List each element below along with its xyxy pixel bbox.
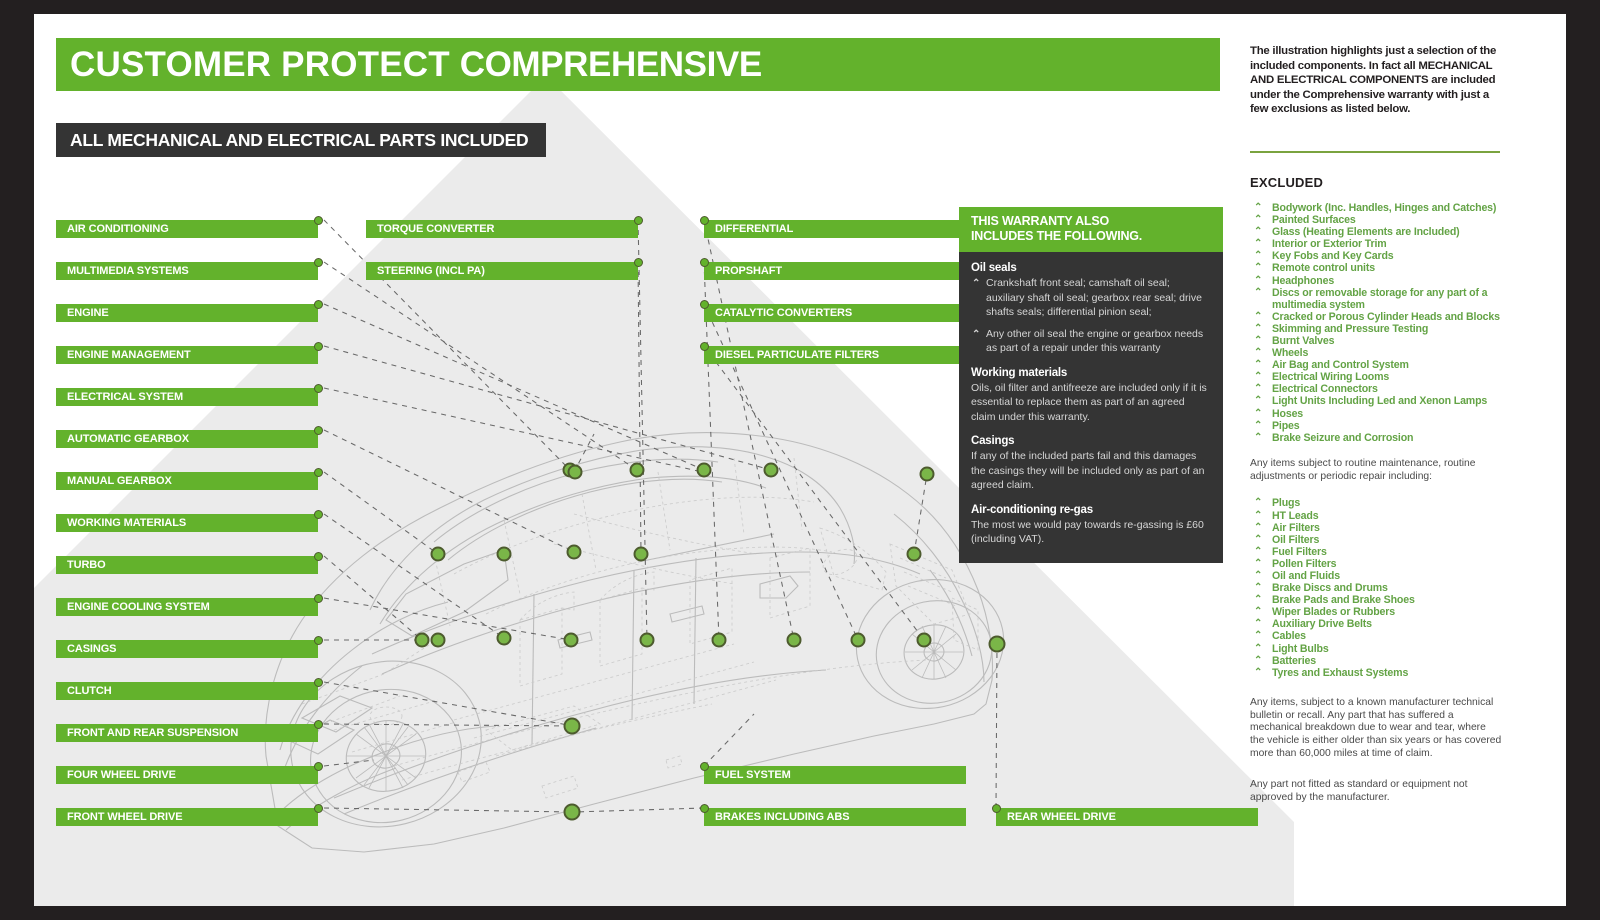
caret-up-icon: ⌃ — [1254, 656, 1262, 666]
connector-dot-icon — [314, 426, 323, 435]
component-label-text: STEERING (INCL PA) — [366, 265, 485, 277]
caret-up-icon: ⌃ — [1254, 607, 1262, 617]
component-label-brakes-including-abs[interactable]: BRAKES INCLUDING ABS — [704, 808, 966, 826]
list-item: ⌃Oil Filters — [1250, 534, 1518, 546]
exclusions-sidebar: The illustration highlights just a selec… — [1250, 44, 1518, 804]
caret-up-icon: ⌃ — [1254, 559, 1262, 569]
list-item-label: Skimming and Pressure Testing — [1272, 323, 1428, 335]
connector-dot-icon — [314, 636, 323, 645]
component-label-fuel-system[interactable]: FUEL SYSTEM — [704, 766, 966, 784]
component-label-engine-management[interactable]: ENGINE MANAGEMENT — [56, 346, 318, 364]
warranty-bullet-text: Crankshaft front seal; camshaft oil seal… — [986, 277, 1202, 318]
component-label-text: ENGINE — [56, 307, 109, 319]
component-label-four-wheel-drive[interactable]: FOUR WHEEL DRIVE — [56, 766, 318, 784]
list-item: ⌃Fuel Filters — [1250, 546, 1518, 558]
caret-up-icon: ⌃ — [1254, 668, 1262, 678]
component-label-text: DIFFERENTIAL — [704, 223, 793, 235]
caret-up-icon: ⌃ — [1254, 384, 1262, 394]
list-item-label: Electrical Wiring Looms — [1272, 371, 1389, 383]
connector-dot-icon — [314, 594, 323, 603]
component-label-front-and-rear-suspension[interactable]: FRONT AND REAR SUSPENSION — [56, 724, 318, 742]
list-item-label: Remote control units — [1272, 262, 1375, 274]
caret-up-icon: ⌃ — [1254, 547, 1262, 557]
list-item: ⌃Batteries — [1250, 655, 1518, 667]
connector-dot-icon — [314, 258, 323, 267]
list-item: ⌃Wiper Blades or Rubbers — [1250, 606, 1518, 618]
caret-up-icon: ⌃ — [1254, 535, 1262, 545]
list-item-label: Fuel Filters — [1272, 546, 1327, 558]
caret-up-icon: ⌃ — [1254, 372, 1262, 382]
list-item-label: Light Units Including Led and Xenon Lamp… — [1272, 395, 1487, 407]
warranty-section-heading: Casings — [971, 435, 1211, 447]
list-item-label: Glass (Heating Elements are Included) — [1272, 226, 1460, 238]
caret-up-icon: ⌃ — [1254, 409, 1262, 419]
connector-dot-icon — [314, 300, 323, 309]
component-label-text: CATALYTIC CONVERTERS — [704, 307, 852, 319]
caret-up-icon: ⌃ — [1254, 324, 1262, 334]
warranty-section: CasingsIf any of the included parts fail… — [971, 435, 1211, 493]
footnote-two: Any part not fitted as standard or equip… — [1250, 779, 1502, 805]
warranty-bullet-item: ⌃Crankshaft front seal; camshaft oil sea… — [971, 276, 1211, 320]
component-label-torque-converter[interactable]: TORQUE CONVERTER — [366, 220, 638, 238]
component-label-engine[interactable]: ENGINE — [56, 304, 318, 322]
list-item: ⌃Cables — [1250, 630, 1518, 642]
component-label-casings[interactable]: CASINGS — [56, 640, 318, 658]
caret-up-icon: ⌃ — [1254, 421, 1262, 431]
connector-dot-icon — [700, 804, 709, 813]
caret-up-icon: ⌃ — [1254, 251, 1262, 261]
poster-frame: CUSTOMER PROTECT COMPREHENSIVE ALL MECHA… — [0, 0, 1600, 920]
sidebar-divider — [1250, 151, 1500, 153]
warranty-inclusions-panel: THIS WARRANTY ALSO INCLUDES THE FOLLOWIN… — [959, 207, 1223, 563]
warranty-bullet-item: ⌃Any other oil seal the engine or gearbo… — [971, 327, 1211, 356]
list-item: ⌃Air Filters — [1250, 522, 1518, 534]
connector-dot-icon — [700, 258, 709, 267]
connector-dot-icon — [700, 762, 709, 771]
component-label-text: TURBO — [56, 559, 106, 571]
caret-up-icon: ⌃ — [1254, 227, 1262, 237]
caret-up-icon: ⌃ — [1254, 360, 1262, 370]
footnote-one: Any items, subject to a known manufactur… — [1250, 697, 1502, 761]
component-label-clutch[interactable]: CLUTCH — [56, 682, 318, 700]
component-label-text: FRONT WHEEL DRIVE — [56, 811, 182, 823]
list-item: ⌃Headphones — [1250, 275, 1518, 287]
component-label-propshaft[interactable]: PROPSHAFT — [704, 262, 966, 280]
warranty-bullet-list: ⌃Crankshaft front seal; camshaft oil sea… — [971, 276, 1211, 356]
component-label-manual-gearbox[interactable]: MANUAL GEARBOX — [56, 472, 318, 490]
warranty-panel-header: THIS WARRANTY ALSO INCLUDES THE FOLLOWIN… — [959, 207, 1223, 252]
connector-dot-icon — [314, 510, 323, 519]
list-item: ⌃Painted Surfaces — [1250, 214, 1518, 226]
component-label-text: BRAKES INCLUDING ABS — [704, 811, 850, 823]
warranty-section-heading: Air-conditioning re-gas — [971, 504, 1211, 516]
warranty-section-paragraph: If any of the included parts fail and th… — [971, 449, 1211, 493]
warranty-section: Working materialsOils, oil filter and an… — [971, 367, 1211, 425]
list-item-label: Wheels — [1272, 347, 1308, 359]
caret-up-icon: ⌃ — [972, 279, 980, 289]
connector-dot-icon — [634, 258, 643, 267]
connector-dot-icon — [314, 678, 323, 687]
excluded-heading: EXCLUDED — [1250, 175, 1518, 190]
list-item-label: Air Bag and Control System — [1272, 359, 1409, 371]
list-item-label: Brake Pads and Brake Shoes — [1272, 594, 1415, 606]
connector-dot-icon — [700, 342, 709, 351]
connector-dot-icon — [700, 300, 709, 309]
list-item-label: Painted Surfaces — [1272, 214, 1356, 226]
component-label-rear-wheel-drive[interactable]: REAR WHEEL DRIVE — [996, 808, 1258, 826]
caret-up-icon: ⌃ — [1254, 523, 1262, 533]
caret-up-icon: ⌃ — [972, 330, 980, 340]
component-label-text: WORKING MATERIALS — [56, 517, 186, 529]
connector-dot-icon — [314, 342, 323, 351]
caret-up-icon: ⌃ — [1254, 571, 1262, 581]
component-label-front-wheel-drive[interactable]: FRONT WHEEL DRIVE — [56, 808, 318, 826]
caret-up-icon: ⌃ — [1254, 312, 1262, 322]
caret-up-icon: ⌃ — [1254, 619, 1262, 629]
list-item-label: Wiper Blades or Rubbers — [1272, 606, 1395, 618]
caret-up-icon: ⌃ — [1254, 644, 1262, 654]
component-label-text: CLUTCH — [56, 685, 112, 697]
list-item-label: Discs or removable storage for any part … — [1272, 287, 1487, 311]
warranty-header-line-1: THIS WARRANTY ALSO — [971, 214, 1211, 229]
component-label-text: FUEL SYSTEM — [704, 769, 791, 781]
caret-up-icon: ⌃ — [1254, 511, 1262, 521]
intro-paragraph: The illustration highlights just a selec… — [1250, 44, 1502, 117]
list-item: ⌃Auxiliary Drive Belts — [1250, 618, 1518, 630]
warranty-section-heading: Oil seals — [971, 262, 1211, 274]
list-item: ⌃Air Bag and Control System — [1250, 359, 1518, 371]
caret-up-icon: ⌃ — [1254, 396, 1262, 406]
caret-up-icon: ⌃ — [1254, 288, 1262, 298]
list-item: ⌃Light Bulbs — [1250, 643, 1518, 655]
excluded-items-list: ⌃Bodywork (Inc. Handles, Hinges and Catc… — [1250, 202, 1518, 444]
list-item: ⌃Electrical Wiring Looms — [1250, 371, 1518, 383]
list-item: ⌃Brake Discs and Drums — [1250, 582, 1518, 594]
connector-dot-icon — [700, 216, 709, 225]
component-label-text: REAR WHEEL DRIVE — [996, 811, 1116, 823]
component-label-text: MULTIMEDIA SYSTEMS — [56, 265, 189, 277]
component-label-text: AIR CONDITIONING — [56, 223, 169, 235]
component-label-engine-cooling-system[interactable]: ENGINE COOLING SYSTEM — [56, 598, 318, 616]
component-label-turbo[interactable]: TURBO — [56, 556, 318, 574]
component-label-diesel-particulate-filters[interactable]: DIESEL PARTICULATE FILTERS — [704, 346, 966, 364]
component-label-text: ENGINE MANAGEMENT — [56, 349, 191, 361]
component-label-text: AUTOMATIC GEARBOX — [56, 433, 189, 445]
main-title-banner: CUSTOMER PROTECT COMPREHENSIVE — [56, 38, 1220, 91]
connector-dot-icon — [314, 552, 323, 561]
caret-up-icon: ⌃ — [1254, 215, 1262, 225]
caret-up-icon: ⌃ — [1254, 595, 1262, 605]
component-label-air-conditioning[interactable]: AIR CONDITIONING — [56, 220, 318, 238]
list-item-label: Tyres and Exhaust Systems — [1272, 667, 1408, 679]
warranty-section-paragraph: The most we would pay towards re-gassing… — [971, 518, 1211, 547]
routine-maintenance-note: Any items subject to routine maintenance… — [1250, 458, 1502, 484]
component-label-text: ENGINE COOLING SYSTEM — [56, 601, 210, 613]
list-item: ⌃Remote control units — [1250, 262, 1518, 274]
connector-dot-icon — [314, 762, 323, 771]
component-label-electrical-system[interactable]: ELECTRICAL SYSTEM — [56, 388, 318, 406]
list-item: ⌃Brake Pads and Brake Shoes — [1250, 594, 1518, 606]
connector-dot-icon — [992, 804, 1001, 813]
component-label-text: CASINGS — [56, 643, 116, 655]
component-label-multimedia-systems[interactable]: MULTIMEDIA SYSTEMS — [56, 262, 318, 280]
list-item: ⌃Oil and Fluids — [1250, 570, 1518, 582]
page-title-emphasis: COMPREHENSIVE — [460, 45, 762, 84]
list-item-label: Batteries — [1272, 655, 1316, 667]
list-item: ⌃Brake Seizure and Corrosion — [1250, 432, 1518, 444]
connector-dot-icon — [314, 384, 323, 393]
list-item-label: Auxiliary Drive Belts — [1272, 618, 1372, 630]
list-item: ⌃Plugs — [1250, 497, 1518, 509]
list-item-label: Brake Seizure and Corrosion — [1272, 432, 1413, 444]
component-label-text: DIESEL PARTICULATE FILTERS — [704, 349, 879, 361]
page-title: CUSTOMER PROTECT COMPREHENSIVE — [70, 45, 762, 85]
list-item: ⌃Wheels — [1250, 347, 1518, 359]
list-item-label: Brake Discs and Drums — [1272, 582, 1388, 594]
caret-up-icon: ⌃ — [1254, 631, 1262, 641]
list-item: ⌃Key Fobs and Key Cards — [1250, 250, 1518, 262]
list-item-label: Pollen Filters — [1272, 558, 1336, 570]
list-item-label: Oil Filters — [1272, 534, 1319, 546]
caret-up-icon: ⌃ — [1254, 336, 1262, 346]
caret-up-icon: ⌃ — [1254, 433, 1262, 443]
list-item: ⌃Glass (Heating Elements are Included) — [1250, 226, 1518, 238]
component-label-text: FOUR WHEEL DRIVE — [56, 769, 176, 781]
caret-up-icon: ⌃ — [1254, 348, 1262, 358]
component-label-steering-incl-pa[interactable]: STEERING (INCL PA) — [366, 262, 638, 280]
list-item-label: Light Bulbs — [1272, 643, 1329, 655]
connector-dot-icon — [634, 216, 643, 225]
list-item-label: Pipes — [1272, 420, 1300, 432]
subtitle-text: ALL MECHANICAL AND ELECTRICAL PARTS INCL… — [70, 130, 528, 151]
list-item: ⌃Discs or removable storage for any part… — [1250, 287, 1518, 311]
list-item-label: HT Leads — [1272, 510, 1318, 522]
warranty-panel-body: Oil seals⌃Crankshaft front seal; camshaf… — [959, 252, 1223, 563]
list-item: ⌃Electrical Connectors — [1250, 383, 1518, 395]
list-item-label: Air Filters — [1272, 522, 1320, 534]
list-item: ⌃Light Units Including Led and Xenon Lam… — [1250, 395, 1518, 407]
component-label-text: FRONT AND REAR SUSPENSION — [56, 727, 238, 739]
caret-up-icon: ⌃ — [1254, 498, 1262, 508]
list-item-label: Headphones — [1272, 275, 1334, 287]
list-item: ⌃Burnt Valves — [1250, 335, 1518, 347]
list-item: ⌃Hoses — [1250, 408, 1518, 420]
page-title-plain: CUSTOMER PROTECT — [70, 45, 460, 84]
warranty-section: Air-conditioning re-gasThe most we would… — [971, 504, 1211, 547]
list-item-label: Plugs — [1272, 497, 1300, 509]
connector-dot-icon — [314, 216, 323, 225]
list-item: ⌃Tyres and Exhaust Systems — [1250, 667, 1518, 679]
caret-up-icon: ⌃ — [1254, 263, 1262, 273]
component-label-text: ELECTRICAL SYSTEM — [56, 391, 183, 403]
list-item-label: Cracked or Porous Cylinder Heads and Blo… — [1272, 311, 1500, 323]
list-item-label: Burnt Valves — [1272, 335, 1334, 347]
warranty-section-heading: Working materials — [971, 367, 1211, 379]
component-label-automatic-gearbox[interactable]: AUTOMATIC GEARBOX — [56, 430, 318, 448]
list-item-label: Bodywork (Inc. Handles, Hinges and Catch… — [1272, 202, 1496, 214]
list-item: ⌃Pipes — [1250, 420, 1518, 432]
component-label-differential[interactable]: DIFFERENTIAL — [704, 220, 966, 238]
list-item-label: Interior or Exterior Trim — [1272, 238, 1387, 250]
connector-dot-icon — [314, 468, 323, 477]
caret-up-icon: ⌃ — [1254, 583, 1262, 593]
list-item-label: Cables — [1272, 630, 1306, 642]
component-label-catalytic-converters[interactable]: CATALYTIC CONVERTERS — [704, 304, 966, 322]
list-item: ⌃Pollen Filters — [1250, 558, 1518, 570]
list-item-label: Hoses — [1272, 408, 1303, 420]
component-label-text: MANUAL GEARBOX — [56, 475, 172, 487]
list-item: ⌃HT Leads — [1250, 510, 1518, 522]
list-item: ⌃Interior or Exterior Trim — [1250, 238, 1518, 250]
list-item-label: Oil and Fluids — [1272, 570, 1340, 582]
caret-up-icon: ⌃ — [1254, 239, 1262, 249]
component-label-working-materials[interactable]: WORKING MATERIALS — [56, 514, 318, 532]
warranty-section-paragraph: Oils, oil filter and antifreeze are incl… — [971, 381, 1211, 425]
warranty-header-line-2: INCLUDES THE FOLLOWING. — [971, 229, 1211, 244]
connector-dot-icon — [314, 720, 323, 729]
component-label-text: PROPSHAFT — [704, 265, 782, 277]
poster-canvas: CUSTOMER PROTECT COMPREHENSIVE ALL MECHA… — [34, 14, 1566, 906]
connector-dot-icon — [314, 804, 323, 813]
component-label-text: TORQUE CONVERTER — [366, 223, 494, 235]
routine-items-list: ⌃Plugs⌃HT Leads⌃Air Filters⌃Oil Filters⌃… — [1250, 497, 1518, 678]
list-item-label: Electrical Connectors — [1272, 383, 1378, 395]
list-item: ⌃Cracked or Porous Cylinder Heads and Bl… — [1250, 311, 1518, 323]
list-item: ⌃Skimming and Pressure Testing — [1250, 323, 1518, 335]
caret-up-icon: ⌃ — [1254, 203, 1262, 213]
list-item: ⌃Bodywork (Inc. Handles, Hinges and Catc… — [1250, 202, 1518, 214]
subtitle-banner: ALL MECHANICAL AND ELECTRICAL PARTS INCL… — [56, 123, 546, 157]
warranty-section: Oil seals⌃Crankshaft front seal; camshaf… — [971, 262, 1211, 356]
warranty-bullet-text: Any other oil seal the engine or gearbox… — [986, 328, 1203, 355]
caret-up-icon: ⌃ — [1254, 276, 1262, 286]
list-item-label: Key Fobs and Key Cards — [1272, 250, 1394, 262]
